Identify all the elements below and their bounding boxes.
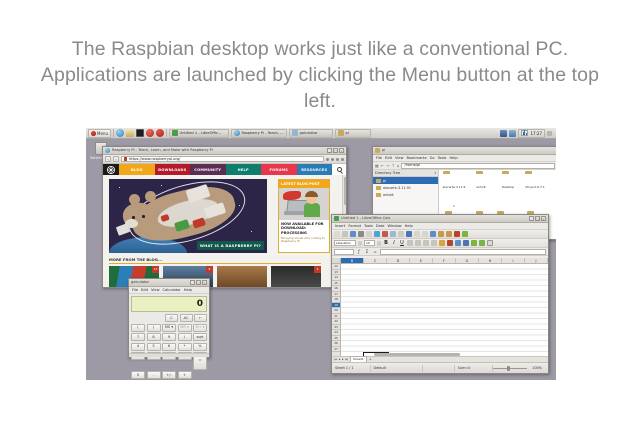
divider bbox=[113, 129, 114, 137]
maximize-button[interactable]: □ bbox=[333, 148, 338, 153]
column-header-H[interactable]: H bbox=[479, 258, 502, 263]
more-from-blog-heading: MORE FROM THE BLOG... bbox=[109, 257, 162, 262]
status-sum: Sum=0 bbox=[455, 365, 494, 372]
folder-icon bbox=[338, 130, 344, 136]
file-label: Desktop bbox=[502, 185, 514, 189]
globe-icon[interactable] bbox=[116, 129, 124, 137]
taskbar-window-browser[interactable]: Raspberry Pi - Teach, ... bbox=[231, 129, 287, 138]
site-nav-downloads[interactable]: DOWNLOADS bbox=[155, 164, 191, 175]
latest-blog-post-image bbox=[279, 188, 329, 220]
galculator-statusbar bbox=[129, 353, 209, 357]
chromium-icon bbox=[234, 130, 240, 136]
back-button[interactable]: ← bbox=[381, 163, 384, 168]
close-button[interactable]: × bbox=[202, 280, 207, 285]
menu-icon[interactable] bbox=[341, 158, 344, 161]
menu-view[interactable]: View bbox=[395, 156, 404, 161]
menu-bookmarks[interactable]: Bookmarks bbox=[407, 156, 427, 161]
key-5[interactable]: 5 bbox=[147, 343, 161, 351]
volume-icon[interactable] bbox=[509, 130, 516, 137]
latest-blog-post-header: LATEST BLOG POST bbox=[279, 180, 329, 188]
page-content: WHAT IS A RASPBERRY PI? LATEST BLOG POST… bbox=[103, 175, 346, 287]
print-preview-icon[interactable] bbox=[366, 231, 372, 237]
keypad-row-4-5-6: 4 5 6 * % bbox=[131, 343, 207, 351]
calc-titlebar[interactable]: Untitled 1 - LibreOffice Calc _ □ × bbox=[332, 215, 548, 223]
key-sqrt[interactable]: sqrt bbox=[193, 333, 207, 341]
status-sheet: Sheet 1 / 1 bbox=[332, 365, 371, 372]
browser-window[interactable]: Raspberry Pi - Teach, Learn, and Make wi… bbox=[102, 146, 347, 288]
percent-icon[interactable] bbox=[455, 240, 461, 246]
indent-icon[interactable] bbox=[471, 240, 477, 246]
formula-icon[interactable]: = bbox=[372, 249, 378, 254]
taskbar-window-label: Untitled 1 - LibreOffic... bbox=[179, 131, 221, 136]
site-navigation: BLOG DOWNLOADS COMMUNITY HELP FORUMS RES… bbox=[103, 164, 346, 175]
file-item[interactable]: alacarte-3.11.91 bbox=[442, 173, 466, 211]
calc-icon bbox=[334, 216, 339, 221]
site-nav-community[interactable]: COMMUNITY bbox=[190, 164, 226, 175]
file-item[interactable]: Desktop bbox=[496, 173, 520, 211]
back-button[interactable]: ‹ bbox=[105, 156, 111, 162]
cell-area[interactable] bbox=[341, 264, 548, 361]
minimize-button[interactable]: _ bbox=[190, 280, 195, 285]
file-item[interactable]: dhcpcd-6.7.1 bbox=[523, 173, 547, 211]
site-nav-resources[interactable]: RESOURCES bbox=[297, 164, 333, 175]
chart-icon[interactable] bbox=[454, 231, 460, 237]
site-nav-help[interactable]: HELP bbox=[226, 164, 262, 175]
chromium-icon bbox=[105, 148, 110, 153]
column-header-F[interactable]: F bbox=[433, 258, 456, 263]
galculator-titlebar[interactable]: galculator _ □ × bbox=[129, 279, 209, 287]
menu-window[interactable]: Window bbox=[387, 224, 401, 229]
chevron-down-icon[interactable] bbox=[358, 241, 362, 246]
key-6[interactable]: 6 bbox=[162, 343, 176, 351]
open-icon[interactable] bbox=[342, 231, 348, 237]
swish-decoration bbox=[283, 191, 301, 200]
star-icon[interactable] bbox=[326, 158, 329, 161]
font-name-input[interactable]: Liberation Sans bbox=[334, 240, 356, 246]
up-button[interactable]: ↑ bbox=[392, 163, 395, 168]
column-header-E[interactable]: E bbox=[410, 258, 433, 263]
libreoffice-calc-window[interactable]: Untitled 1 - LibreOffice Calc _ □ × Inse… bbox=[331, 214, 549, 374]
divider bbox=[166, 129, 167, 137]
file-label: alacarte-3.11.91 bbox=[443, 185, 466, 208]
site-nav-forums[interactable]: FORUMS bbox=[261, 164, 297, 175]
menu-insert[interactable]: Insert bbox=[335, 224, 345, 229]
undo-icon[interactable] bbox=[414, 231, 420, 237]
browser-titlebar[interactable]: Raspberry Pi - Teach, Learn, and Make wi… bbox=[103, 147, 346, 155]
menu-button-label: Menu bbox=[97, 131, 108, 136]
navbar-trailing-icons bbox=[326, 158, 344, 161]
folder-icon bbox=[376, 186, 381, 190]
bear-eye bbox=[142, 215, 145, 218]
row-headers: 12 13 14 15 16 17 18 19 20 21 22 23 24 2… bbox=[332, 264, 341, 361]
comment-badge: 5 bbox=[314, 266, 321, 273]
menu-edit[interactable]: Edit bbox=[385, 156, 392, 161]
grid-rows: 12 13 14 15 16 17 18 19 20 21 22 23 24 2… bbox=[332, 264, 548, 361]
calc-statusbar: Sheet 1 / 1 Default Sum=0 100% bbox=[332, 362, 548, 373]
image-icon[interactable] bbox=[462, 231, 468, 237]
window-controls: _ □ × bbox=[529, 216, 546, 221]
blog-thumbnail[interactable] bbox=[217, 266, 267, 287]
network-icon[interactable] bbox=[500, 130, 507, 137]
address-bar-value: https://www.raspberrypi.org/ bbox=[129, 157, 180, 162]
align-right-icon[interactable] bbox=[423, 240, 429, 246]
folder-icon[interactable] bbox=[126, 129, 134, 137]
select-all-corner[interactable] bbox=[332, 258, 341, 263]
keypad-row-7-8-9: 7 8 9 / sqrt bbox=[131, 333, 207, 341]
key-decimal[interactable]: . bbox=[147, 371, 161, 379]
person-body bbox=[304, 203, 320, 217]
new-icon[interactable] bbox=[334, 231, 340, 237]
sort-asc-icon[interactable] bbox=[438, 231, 444, 237]
wolfram-icon[interactable] bbox=[156, 129, 164, 137]
zoom-slider[interactable] bbox=[493, 368, 527, 369]
align-center-icon[interactable] bbox=[415, 240, 421, 246]
calc-formula-bar: ƒ Σ = bbox=[332, 248, 548, 256]
browser-title: Raspberry Pi - Teach, Learn, and Make wi… bbox=[112, 148, 325, 153]
site-nav-blog[interactable]: BLOG bbox=[119, 164, 155, 175]
calculator-keypad: C AC ← ( ) MS ▾ MR ▾ M+ ▾ 7 8 9 / sqrt 4… bbox=[129, 314, 209, 380]
file-manager-toolbar: ▦ ← → ↑ ⌂ /home/pi bbox=[373, 162, 556, 170]
redo-icon[interactable] bbox=[422, 231, 428, 237]
key-sign-toggle[interactable]: +/- bbox=[162, 371, 176, 379]
browser-navbar: ‹ › https://www.raspberrypi.org/ bbox=[103, 155, 346, 164]
key-memory-add[interactable]: M+ ▾ bbox=[193, 324, 207, 332]
key-7[interactable]: 7 bbox=[131, 333, 145, 341]
path-value: /home/pi bbox=[404, 163, 420, 168]
minimize-button[interactable]: _ bbox=[327, 148, 332, 153]
folder-icon bbox=[376, 193, 381, 197]
tree-item-label: alacarte-3.11.91 bbox=[383, 186, 411, 190]
eject-icon[interactable] bbox=[547, 131, 552, 136]
menu-tools[interactable]: Tools bbox=[438, 156, 447, 161]
file-item[interactable]: anholt bbox=[469, 173, 493, 211]
italic-button[interactable]: I bbox=[391, 240, 397, 246]
currency-icon[interactable] bbox=[447, 240, 453, 246]
add-decimal-icon[interactable] bbox=[463, 240, 469, 246]
galculator-menubar: File Edit View Calculator Help bbox=[129, 287, 209, 294]
tree-item-label: anholt bbox=[383, 193, 394, 197]
calculator-display-value: 0 bbox=[197, 299, 203, 309]
clock-label: 17:27 bbox=[530, 131, 542, 136]
column-header-J[interactable]: J bbox=[525, 258, 548, 263]
formula-input[interactable] bbox=[380, 249, 546, 255]
bear-ear bbox=[145, 191, 156, 202]
key-multiply[interactable]: * bbox=[178, 343, 192, 351]
galculator-window[interactable]: galculator _ □ × File Edit View Calculat… bbox=[128, 278, 210, 358]
terminal-icon[interactable] bbox=[136, 129, 144, 137]
tree-item-anholt[interactable]: anholt bbox=[373, 191, 438, 198]
row-header[interactable]: 27 bbox=[332, 347, 340, 353]
zoom-level: 100% bbox=[529, 365, 545, 372]
divider bbox=[109, 263, 321, 264]
taskbar-window-libreoffice[interactable]: Untitled 1 - LibreOffic... bbox=[169, 129, 229, 138]
menu-data[interactable]: Data bbox=[376, 224, 385, 229]
minimize-button[interactable]: _ bbox=[529, 216, 534, 221]
hero-image[interactable]: WHAT IS A RASPBERRY PI? bbox=[109, 179, 267, 253]
calc-standard-toolbar bbox=[332, 230, 548, 239]
forward-button[interactable]: › bbox=[113, 156, 119, 162]
key-close-paren[interactable]: ) bbox=[147, 324, 161, 332]
page-title: The Raspbian desktop works just like a c… bbox=[40, 36, 600, 114]
menu-edit[interactable]: Edit bbox=[141, 288, 148, 293]
key-clear[interactable]: C bbox=[165, 314, 178, 322]
zoom-control[interactable]: 100% bbox=[493, 365, 548, 372]
cell-name-box[interactable] bbox=[334, 249, 354, 255]
file-label: anholt bbox=[476, 185, 486, 189]
keypad-row-0: 0 . +/- + bbox=[131, 371, 207, 379]
taskbar-window-filemanager[interactable]: pi bbox=[335, 129, 371, 138]
menu-file[interactable]: File bbox=[376, 156, 382, 161]
close-button[interactable]: × bbox=[541, 216, 546, 221]
calc-icon bbox=[172, 130, 178, 136]
menu-calculator[interactable]: Calculator bbox=[163, 288, 181, 293]
latest-blog-post-text: NOW AVAILABLE FOR DOWNLOAD: PROCESSING B… bbox=[279, 220, 329, 246]
menu-format[interactable]: Format bbox=[348, 224, 361, 229]
latest-blog-post-body: Bringing visual arts coding to Raspberry… bbox=[281, 237, 327, 244]
lock-icon bbox=[124, 157, 127, 161]
sum-icon[interactable]: Σ bbox=[364, 249, 370, 254]
taskbar-window-label: pi bbox=[345, 131, 348, 136]
file-manager-titlebar[interactable]: pi bbox=[373, 147, 556, 155]
key-0[interactable]: 0 bbox=[131, 371, 145, 379]
folder-icon bbox=[375, 148, 380, 153]
merge-cells-icon[interactable] bbox=[439, 240, 445, 246]
cut-icon[interactable] bbox=[382, 231, 388, 237]
search-icon[interactable] bbox=[332, 164, 346, 175]
new-tab-icon[interactable]: ▦ bbox=[375, 163, 379, 168]
taskbar: Menu Untitled 1 - LibreOffic... Raspberr… bbox=[86, 128, 556, 139]
home-button[interactable]: ⌂ bbox=[397, 163, 400, 168]
tree-item-alacarte[interactable]: alacarte-3.11.91 bbox=[373, 184, 438, 191]
status-page-style: Default bbox=[371, 365, 424, 372]
menu-tools[interactable]: Tools bbox=[364, 224, 373, 229]
cpu-meter bbox=[521, 130, 528, 136]
latest-blog-post-card[interactable]: LATEST BLOG POST NOW AVAILABLE FOR DOWNL… bbox=[278, 179, 330, 253]
font-size-input[interactable]: 10 bbox=[364, 240, 375, 246]
window-controls: _ □ × bbox=[190, 280, 207, 285]
key-percent[interactable]: % bbox=[193, 343, 207, 351]
taskbar-window-label: galculator bbox=[299, 131, 317, 136]
print-icon[interactable] bbox=[358, 231, 364, 237]
key-9[interactable]: 9 bbox=[162, 333, 176, 341]
folder-icon bbox=[376, 179, 381, 183]
save-icon[interactable] bbox=[350, 231, 356, 237]
directory-tree-header: Directory Tree ▾ bbox=[373, 170, 438, 177]
key-memory-store[interactable]: MS ▾ bbox=[162, 324, 176, 332]
spreadsheet-grid[interactable]: B C D E F G H I J 12 13 14 15 16 17 18 bbox=[332, 258, 548, 361]
calculator-icon bbox=[292, 130, 298, 136]
menu-help[interactable]: Help bbox=[184, 288, 192, 293]
blog-thumbnail[interactable]: 5 bbox=[271, 266, 321, 287]
menu-button[interactable]: Menu bbox=[88, 129, 111, 138]
menu-help[interactable]: Help bbox=[405, 224, 413, 229]
file-manager-menubar: File Edit View Bookmarks Go Tools Help bbox=[373, 155, 556, 162]
status-selection-mode[interactable] bbox=[423, 365, 454, 372]
underline-button[interactable]: U bbox=[399, 240, 405, 246]
calc-menubar: Insert Format Tools Data Window Help bbox=[332, 223, 548, 230]
align-left-icon[interactable] bbox=[407, 240, 413, 246]
bear-eye bbox=[132, 216, 135, 219]
raspberry-icon bbox=[91, 131, 96, 136]
file-label: dhcpcd-6.7.1 bbox=[525, 185, 545, 189]
key-all-clear[interactable]: AC bbox=[180, 314, 193, 322]
spellcheck-icon[interactable] bbox=[374, 231, 380, 237]
file-manager-title: pi bbox=[382, 148, 555, 153]
reload-icon[interactable] bbox=[331, 158, 334, 161]
calc-formatting-toolbar: Liberation Sans 10 B I U bbox=[332, 239, 548, 248]
raspberry-pi-logo[interactable] bbox=[103, 164, 119, 175]
key-backspace[interactable]: ← bbox=[194, 314, 207, 322]
align-justify-icon[interactable] bbox=[431, 240, 437, 246]
comment-badge: 6 bbox=[206, 266, 213, 273]
comment-badge: 13 bbox=[152, 266, 159, 273]
calculator-display: 0 bbox=[131, 296, 207, 312]
window-controls: _ □ × bbox=[327, 148, 344, 153]
chevron-down-icon[interactable] bbox=[377, 241, 381, 246]
forward-button[interactable]: → bbox=[386, 163, 389, 168]
person-hair bbox=[305, 191, 318, 197]
system-tray: 17:27 bbox=[500, 129, 554, 138]
paste-icon[interactable] bbox=[398, 231, 404, 237]
taskbar-window-label: Raspberry Pi - Teach, ... bbox=[241, 131, 283, 136]
raspbian-desktop-screenshot: Menu Untitled 1 - LibreOffic... Raspberr… bbox=[86, 128, 556, 380]
bold-button[interactable]: B bbox=[383, 240, 389, 246]
menu-go[interactable]: Go bbox=[430, 156, 435, 161]
function-wizard-icon[interactable]: ƒ bbox=[356, 249, 362, 254]
address-bar[interactable]: https://www.raspberrypi.org/ bbox=[121, 156, 324, 163]
column-header-D[interactable]: D bbox=[387, 258, 410, 263]
path-input[interactable]: /home/pi bbox=[401, 163, 555, 169]
key-4[interactable]: 4 bbox=[131, 343, 145, 351]
tree-item-label: pi bbox=[383, 179, 386, 183]
close-button[interactable]: × bbox=[339, 148, 344, 153]
key-open-paren[interactable]: ( bbox=[131, 324, 145, 332]
keypad-row-clear: C AC ← bbox=[131, 314, 207, 322]
column-header-B[interactable]: B bbox=[341, 258, 364, 263]
latest-blog-post-heading: NOW AVAILABLE FOR DOWNLOAD: PROCESSING bbox=[281, 222, 327, 235]
calc-title: Untitled 1 - LibreOffice Calc bbox=[341, 216, 527, 221]
tree-item-pi[interactable]: pi bbox=[373, 177, 438, 184]
directory-tree-title: Directory Tree bbox=[375, 171, 400, 176]
menu-file[interactable]: File bbox=[132, 288, 138, 293]
key-divide[interactable]: / bbox=[178, 333, 192, 341]
maximize-button[interactable]: □ bbox=[535, 216, 540, 221]
menu-view[interactable]: View bbox=[151, 288, 160, 293]
galculator-title: galculator bbox=[131, 280, 188, 285]
column-header-G[interactable]: G bbox=[456, 258, 479, 263]
mathematica-icon[interactable] bbox=[146, 129, 154, 137]
extension-icon[interactable] bbox=[336, 158, 339, 161]
flag-decoration bbox=[116, 223, 130, 236]
key-8[interactable]: 8 bbox=[147, 333, 161, 341]
hero-cta-button[interactable]: WHAT IS A RASPBERRY PI? bbox=[197, 241, 264, 250]
borders-icon[interactable] bbox=[487, 240, 493, 246]
clone-formatting-icon[interactable] bbox=[406, 231, 412, 237]
column-header-I[interactable]: I bbox=[502, 258, 525, 263]
key-memory-recall[interactable]: MR ▾ bbox=[178, 324, 192, 332]
chevron-down-icon[interactable]: ▾ bbox=[434, 171, 436, 176]
column-header-C[interactable]: C bbox=[364, 258, 387, 263]
find-icon[interactable] bbox=[430, 231, 436, 237]
taskbar-window-galculator[interactable]: galculator bbox=[289, 129, 333, 138]
keypad-row-memory: ( ) MS ▾ MR ▾ M+ ▾ bbox=[131, 324, 207, 332]
outdent-icon[interactable] bbox=[479, 240, 485, 246]
key-add[interactable]: + bbox=[178, 371, 192, 379]
maximize-button[interactable]: □ bbox=[196, 280, 201, 285]
copy-icon[interactable] bbox=[390, 231, 396, 237]
menu-help[interactable]: Help bbox=[449, 156, 457, 161]
sort-desc-icon[interactable] bbox=[446, 231, 452, 237]
clock-area[interactable]: 17:27 bbox=[518, 129, 545, 138]
